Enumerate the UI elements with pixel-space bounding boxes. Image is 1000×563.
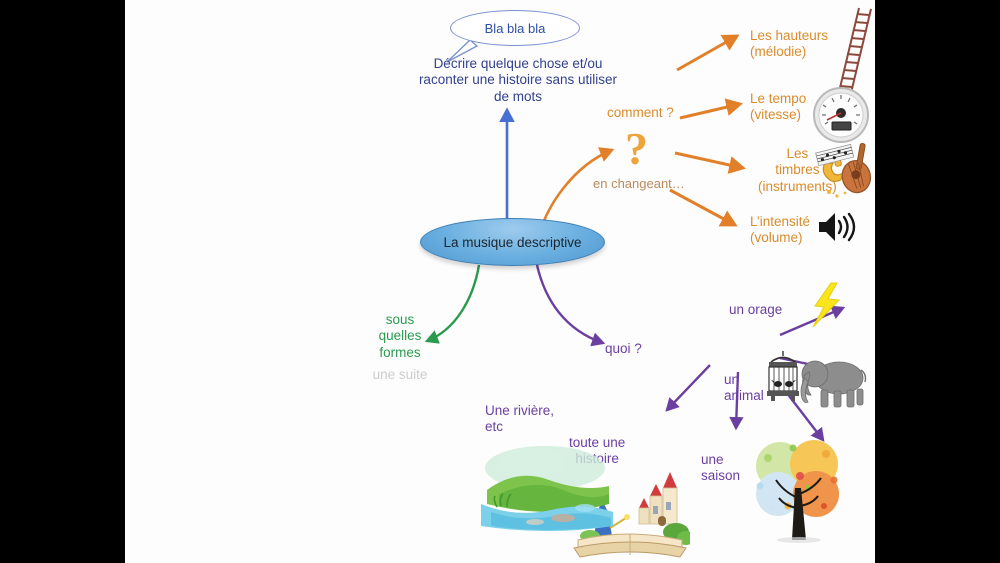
branch-label-animal: un animal: [724, 372, 764, 405]
central-node-label: La musique descriptive: [443, 235, 581, 250]
comment-question-label: comment ?: [607, 105, 674, 121]
branch-label-saison: une saison: [701, 452, 740, 485]
speech-bubble-text: Bla bla bla: [485, 21, 546, 36]
speedometer-icon: [810, 85, 872, 145]
arrow-to-quoi: [537, 265, 603, 343]
mindmap-canvas: La musique descriptive Bla bla bla Décri…: [125, 0, 875, 563]
birdcage-elephant-icon: [761, 348, 875, 410]
four-seasons-tree-icon: [738, 428, 860, 546]
branch-label-orage: un orage: [729, 302, 782, 318]
birdcage-part: [767, 351, 799, 401]
river-landscape-icon: [477, 442, 617, 532]
screenshot-stage: La musique descriptive Bla bla bla Décri…: [0, 0, 1000, 563]
ladder-icon: [825, 4, 875, 96]
arrow-quoi-riviere: [667, 365, 710, 410]
branch-label-formes-faded: une suite: [357, 367, 443, 383]
central-node[interactable]: La musique descriptive: [420, 218, 605, 266]
quoi-question-label: quoi ?: [605, 341, 642, 357]
branch-label-formes: sous quelles formes: [365, 312, 435, 361]
speech-bubble: Bla bla bla: [450, 10, 580, 46]
lightning-icon: [805, 282, 849, 328]
arrow-comment-hauteurs: [677, 36, 737, 70]
castle-part: [639, 472, 677, 526]
branch-label-riviere: Une rivière, etc: [485, 403, 554, 436]
elephant-part: [801, 361, 866, 407]
instruments-icon: [815, 140, 875, 202]
arrow-comment-timbres: [675, 153, 743, 168]
question-mark-icon: ?: [625, 126, 648, 172]
arrow-comment-intensite: [670, 190, 735, 225]
arrow-comment-tempo: [680, 104, 740, 118]
definition-text: Décrire quelque chose et/ou raconter une…: [413, 56, 623, 105]
branch-label-hauteurs: Les hauteurs (mélodie): [750, 28, 828, 61]
branch-label-tempo: Le tempo (vitesse): [750, 91, 806, 124]
book-part: [574, 534, 686, 557]
speaker-icon: [817, 210, 859, 244]
comment-subtitle: en changeant…: [593, 176, 685, 192]
branch-label-intensite: L’intensité (volume): [750, 214, 810, 247]
